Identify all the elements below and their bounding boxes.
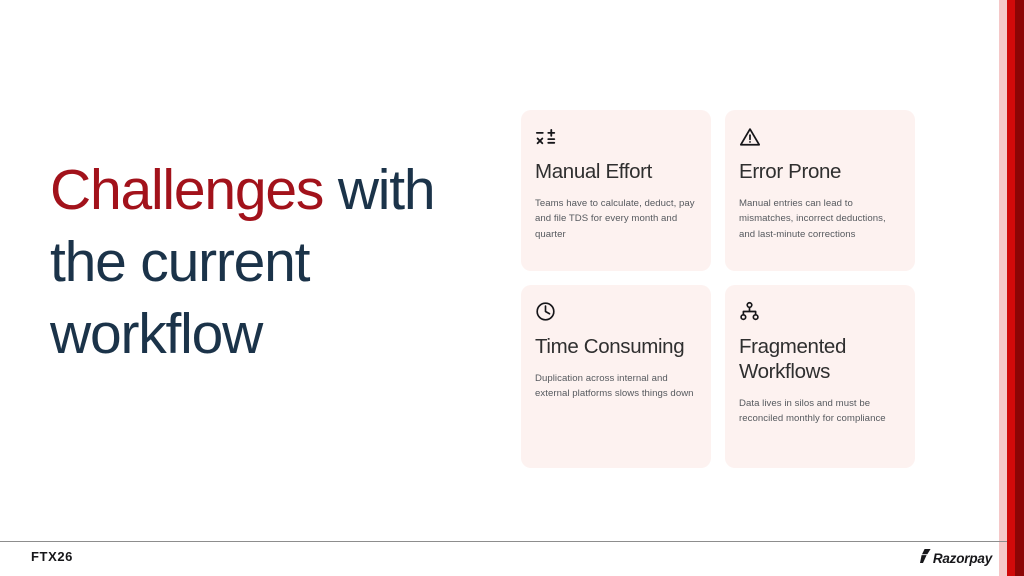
challenge-card-body: Data lives in silos and must be reconcil… xyxy=(739,396,901,427)
edge-stripe-pink xyxy=(999,0,1007,576)
footer-brand-logo: Razorpay xyxy=(920,549,992,568)
razorpay-wordmark: Razorpay xyxy=(933,551,992,566)
challenge-card-time-consuming[interactable]: Time Consuming Duplication across intern… xyxy=(521,285,711,468)
footer-divider xyxy=(0,541,1007,542)
challenge-card-title: Time Consuming xyxy=(535,334,697,359)
warning-triangle-icon xyxy=(739,126,901,148)
challenge-card-title: Manual Effort xyxy=(535,159,697,184)
hierarchy-network-icon xyxy=(739,301,901,323)
math-operators-icon xyxy=(535,126,697,148)
slide-canvas: Challenges with the current workflow Man… xyxy=(0,0,1024,576)
challenge-card-manual-effort[interactable]: Manual Effort Teams have to calculate, d… xyxy=(521,110,711,271)
edge-stripe-red xyxy=(1007,0,1015,576)
challenge-card-error-prone[interactable]: Error Prone Manual entries can lead to m… xyxy=(725,110,915,271)
clock-icon xyxy=(535,301,697,323)
razorpay-mark-icon xyxy=(920,549,931,568)
challenge-card-title: Error Prone xyxy=(739,159,901,184)
edge-stripe-group xyxy=(999,0,1024,576)
challenge-card-body: Teams have to calculate, deduct, pay and… xyxy=(535,196,697,242)
challenge-card-fragmented-workflows[interactable]: Fragmented Workflows Data lives in silos… xyxy=(725,285,915,468)
footer-event-label: FTX26 xyxy=(31,549,73,564)
challenge-card-body: Manual entries can lead to mismatches, i… xyxy=(739,196,901,242)
challenge-card-body: Duplication across internal and external… xyxy=(535,371,697,402)
edge-stripe-dark-red xyxy=(1015,0,1024,576)
challenge-card-grid: Manual Effort Teams have to calculate, d… xyxy=(521,110,915,468)
challenge-card-title: Fragmented Workflows xyxy=(739,334,901,384)
page-title-accent: Challenges xyxy=(50,158,323,222)
page-title: Challenges with the current workflow xyxy=(50,154,480,370)
